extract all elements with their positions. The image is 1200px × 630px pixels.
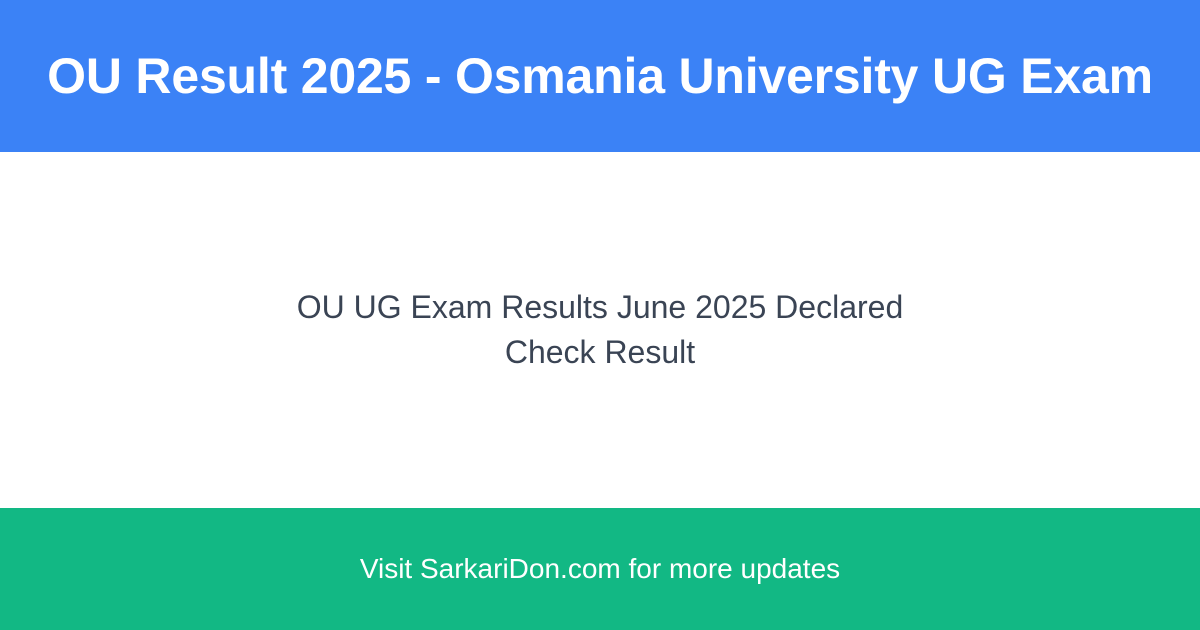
header-band: OU Result 2025 - Osmania University UG E… <box>0 0 1200 152</box>
result-banner: OU Result 2025 - Osmania University UG E… <box>0 0 1200 630</box>
main-content-area: OU UG Exam Results June 2025 Declared Ch… <box>0 152 1200 508</box>
page-title: OU Result 2025 - Osmania University UG E… <box>47 48 1153 104</box>
result-subtitle: OU UG Exam Results June 2025 Declared Ch… <box>250 285 950 376</box>
footer-band: Visit SarkariDon.com for more updates <box>0 508 1200 630</box>
footer-visit-text: Visit SarkariDon.com for more updates <box>360 552 840 586</box>
